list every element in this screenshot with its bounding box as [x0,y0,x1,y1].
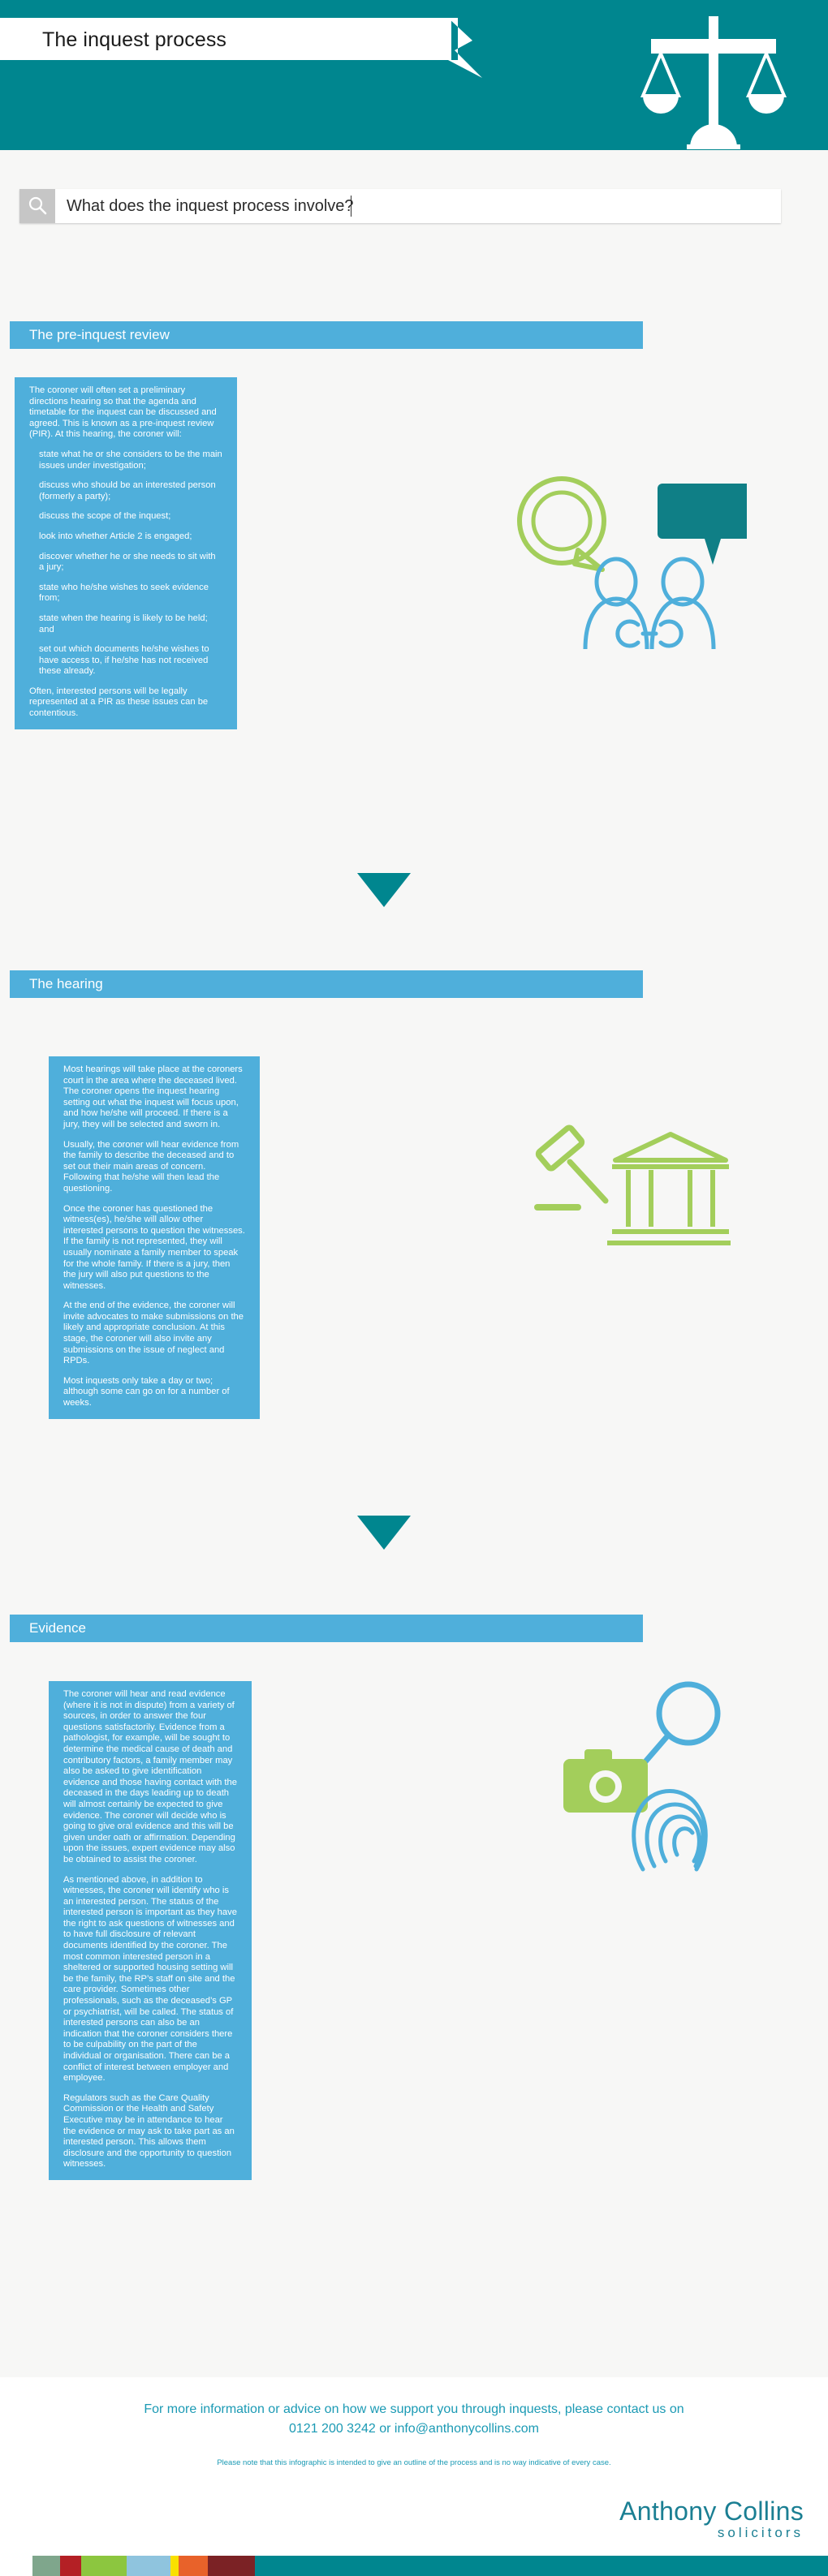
section-header-evidence: Evidence [10,1615,643,1642]
card-evidence: The coroner will hear and read evidence … [49,1681,252,2180]
bar-swatch [32,2556,60,2576]
title-bubble-tail-icon [406,18,495,78]
gavel-icon [537,1126,606,1207]
infographic-page: The inquest process What does the inques… [0,0,828,2576]
brand-subtitle: solicitors [619,2525,804,2541]
bullet-item: state what he or she considers to be the… [29,449,222,471]
paragraph: Once the coroner has questioned the witn… [63,1204,245,1292]
paragraph: Regulators such as the Care Quality Comm… [63,2093,237,2170]
section-header-pre-inquest-review: The pre-inquest review [10,321,643,349]
footer-color-bar [0,2556,828,2576]
footer-contact-line2[interactable]: 0121 200 3242 or info@anthonycollins.com [49,2419,779,2439]
magnifier-icon [636,1684,718,1772]
search-input[interactable]: What does the inquest process involve? [55,189,781,223]
footer-disclaimer: Please note that this infographic is int… [49,2458,779,2467]
speech-bubble-green-icon [520,479,604,570]
search-bar[interactable]: What does the inquest process involve? [19,189,781,223]
icon-group-pre-inquest [503,471,747,649]
bullet-item: discover whether he or she needs to sit … [29,552,222,574]
paragraph-outro: Often, interested persons will be legall… [29,686,222,720]
bullet-item: set out which documents he/she wishes to… [29,644,222,677]
brand-name: Anthony Collins [619,2497,804,2525]
two-people-icon [585,559,714,649]
paragraph-intro: The coroner will often set a preliminary… [29,385,222,441]
paragraph: Most inquests only take a day or two; al… [63,1376,245,1409]
bullet-item: look into whether Article 2 is engaged; [29,531,222,543]
connector-arrow-1 [357,873,411,907]
footer-contact-line1: For more information or advice on how we… [49,2400,779,2419]
paragraph: The coroner will hear and read evidence … [63,1689,237,1866]
bullet-item: state who he/she wishes to seek evidence… [29,583,222,604]
page-title: The inquest process [42,24,391,55]
bar-swatch [208,2556,255,2576]
card-pre-inquest-review: The coroner will often set a preliminary… [15,377,237,729]
paragraph: At the end of the evidence, the coroner … [63,1301,245,1367]
connector-arrow-2 [357,1516,411,1550]
icon-group-hearing [528,1120,731,1266]
footer-contact: For more information or advice on how we… [49,2400,779,2439]
bar-swatch [60,2556,81,2576]
search-icon[interactable] [19,189,55,223]
scales-of-justice-icon [636,11,791,149]
camera-icon [563,1749,648,1813]
bullet-item: discuss who should be an interested pers… [29,480,222,502]
section-header-the-hearing: The hearing [10,970,643,998]
footer: For more information or advice on how we… [0,2377,828,2576]
bar-swatch [127,2556,170,2576]
bar-swatch [81,2556,127,2576]
paragraph: As mentioned above, in addition to witne… [63,1875,237,2084]
text-caret [351,196,351,217]
paragraph: Usually, the coroner will hear evidence … [63,1140,245,1195]
speech-bubble-teal-icon [658,484,747,565]
card-the-hearing: Most hearings will take place at the cor… [49,1056,260,1419]
bar-swatch [255,2556,828,2576]
icon-group-evidence [552,1671,747,1874]
search-input-value: What does the inquest process involve? [67,197,354,216]
fingerprint-icon [634,1791,706,1870]
brand-logo: Anthony Collins solicitors [619,2497,804,2541]
bullet-item: discuss the scope of the inquest; [29,511,222,523]
bar-swatch [170,2556,179,2576]
bar-swatch [179,2556,208,2576]
bar-swatch [0,2556,32,2576]
courthouse-icon [607,1134,731,1243]
paragraph: Most hearings will take place at the cor… [63,1064,245,1131]
bullet-item: state when the hearing is likely to be h… [29,613,222,635]
